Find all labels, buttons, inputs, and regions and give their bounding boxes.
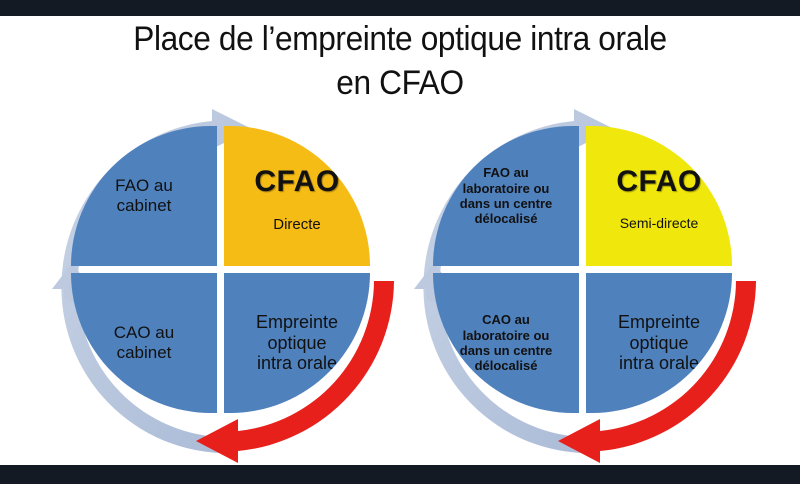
page-title: Place de l’empreinte optique intra orale…: [28, 18, 772, 105]
quadrant-empreinte-label: Empreinte optique intra orale: [618, 312, 700, 374]
bottom-band: [0, 465, 800, 484]
slide-canvas: Place de l’empreinte optique intra orale…: [0, 0, 800, 484]
quadrant-cfao-title: CFAO: [616, 165, 701, 199]
top-band: [0, 0, 800, 16]
quadrant-cao-label: CAO au cabinet: [114, 323, 174, 363]
quadrant-fao-label: FAO au cabinet: [115, 176, 173, 216]
quadrant-fao-label: FAO au laboratoire ou dans un centre dél…: [460, 165, 552, 226]
quadrant-cfao-subtitle: Semi-directe: [620, 215, 699, 231]
diagram-workflow-semi-directe: FAO au laboratoire ou dans un centre dél…: [418, 113, 754, 459]
diagram-workflow-directe: FAO au cabinet CFAO Directe CAO au cabin…: [56, 113, 392, 459]
quadrant-empreinte-label: Empreinte optique intra orale: [256, 312, 338, 374]
quadrant-cao-label: CAO au laboratoire ou dans un centre dél…: [460, 312, 552, 373]
quadrant-cfao-subtitle: Directe: [273, 216, 321, 233]
quadrant-cfao-title: CFAO: [254, 165, 339, 199]
